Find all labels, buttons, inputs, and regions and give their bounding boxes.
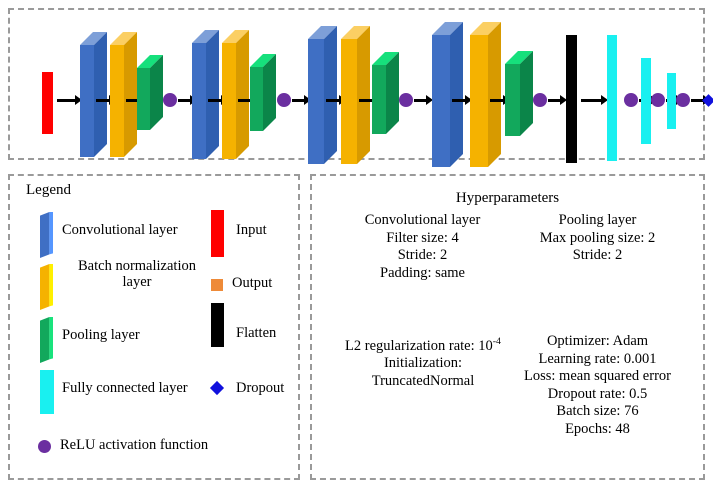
hyperparameters-group-training: Optimizer: AdamLearning rate: 0.001Loss:…: [495, 333, 700, 438]
hyperparameters-title: Hyperparameters: [310, 190, 705, 207]
arrow-relu2-out: [292, 99, 305, 102]
conv-block-4: [432, 22, 463, 167]
architecture-stage: M: [10, 10, 707, 162]
input-bar: [42, 72, 53, 134]
flatten-bar: [566, 35, 577, 163]
hyperparameter-line: TruncatedNormal: [328, 373, 518, 391]
arrow-relu3-out: [414, 99, 427, 102]
arrow-conv2-to-bn2: [208, 99, 222, 102]
conv-block-3: [308, 26, 337, 164]
legend-icon-slab-1: [40, 264, 53, 310]
pooling-block-4: [505, 51, 533, 136]
legend-icon-bar-7: [211, 303, 224, 347]
batchnorm-block-1: [110, 32, 137, 157]
relu-dot-3: [399, 93, 413, 107]
legend-icon-circle-4: [38, 440, 51, 453]
hyperparameters-group-regularization: L2 regularization rate: 10-4Initializati…: [328, 333, 518, 390]
hyperparameter-line: L2 regularization rate: 10-4: [328, 333, 518, 355]
relu-dot-7: [676, 93, 690, 107]
hyperparameter-line: Epochs: 48: [495, 421, 700, 439]
hyperparameter-line: Filter size: 4: [330, 230, 515, 248]
batchnorm-block-4: [470, 22, 501, 167]
hyperparameter-line: Stride: 2: [500, 247, 695, 265]
legend-icon-bar-3: [40, 370, 54, 414]
hyperparameter-line: Stride: 2: [330, 247, 515, 265]
legend-label-1: Batch normalization layer: [62, 258, 212, 290]
conv-block-2: [192, 30, 219, 159]
arrow-conv3-to-bn3: [326, 99, 340, 102]
hyperparameters-group-pooling-layer: Pooling layerMax pooling size: 2Stride: …: [500, 212, 695, 265]
legend-title: Legend: [26, 182, 71, 199]
legend-label-2: Pooling layer: [62, 327, 212, 343]
hyperparameter-line: Learning rate: 0.001: [495, 351, 700, 369]
fully-connected-3: [667, 73, 676, 129]
hyperparameter-line: Padding: same: [330, 265, 515, 283]
arrow-bn4-to-pool4: [490, 99, 504, 102]
batchnorm-block-2: [222, 30, 249, 159]
hyperparameter-line: Initialization:: [328, 355, 518, 373]
arrow-bn3-to-pool3: [359, 99, 373, 102]
hyperparameter-line: Max pooling size: 2: [500, 230, 695, 248]
pooling-block-1: [137, 55, 163, 130]
fully-connected-1: [607, 35, 617, 161]
arrow-relu1-out: [178, 99, 191, 102]
relu-dot-1: [163, 93, 177, 107]
relu-dot-4: [533, 93, 547, 107]
hyperparameter-line: Loss: mean squared error: [495, 368, 700, 386]
relu-dot-2: [277, 93, 291, 107]
pooling-block-2: [250, 54, 276, 131]
hyperparameter-line: Optimizer: Adam: [495, 333, 700, 351]
hyperparameter-heading: Pooling layer: [500, 212, 695, 230]
hyperparameter-line: Dropout rate: 0.5: [495, 386, 700, 404]
hyperparameter-heading: Convolutional layer: [330, 212, 515, 230]
hyperparameter-line: Batch size: 76: [495, 403, 700, 421]
conv-block-1: [80, 32, 107, 157]
arrow-flatten-to-fc1: [581, 99, 602, 102]
arrow-conv4-to-bn4: [452, 99, 466, 102]
relu-dot-5: [624, 93, 638, 107]
arrow-conv1-to-bn1: [96, 99, 110, 102]
legend-icon-slab-0: [40, 212, 53, 258]
arrow-relu4-out: [548, 99, 561, 102]
legend-icon-square-6: [211, 279, 223, 291]
legend-icon-slab-2: [40, 317, 53, 363]
legend-icon-bar-5: [211, 210, 224, 257]
batchnorm-block-3: [341, 26, 370, 164]
hyperparameters-group-convolutional-layer: Convolutional layerFilter size: 4Stride:…: [330, 212, 515, 282]
fully-connected-2: [641, 58, 651, 144]
arrow-input-to-conv1: [57, 99, 76, 102]
architecture-panel: M: [8, 8, 705, 160]
relu-dot-6: [651, 93, 665, 107]
legend-label-6: Output: [232, 275, 322, 291]
pooling-block-3: [372, 52, 399, 134]
legend-label-4: ReLU activation function: [60, 437, 280, 453]
legend-label-3: Fully connected layer: [62, 380, 232, 396]
